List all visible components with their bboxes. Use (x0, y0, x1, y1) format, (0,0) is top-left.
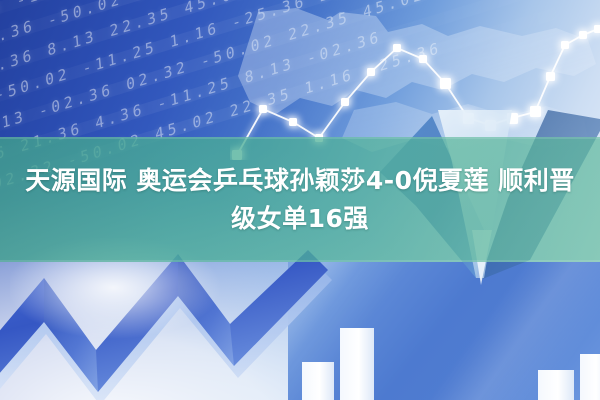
ticker-row: -02.36 45.02 -50.02 4.36 -25.36 1.16 (0, 0, 352, 16)
band-top-edge (0, 137, 600, 139)
headline-text-block: 天源国际 奥运会乒乓球孙颖莎4-0倪夏莲 顺利晋 级女单16强 (0, 144, 600, 256)
world-map-silhouette (236, 6, 596, 156)
headline-line-2: 级女单16强 (231, 202, 369, 236)
lower-right-sheen (288, 262, 600, 400)
3d-zigzag-arrow-ribbon (0, 250, 340, 400)
band-bottom-edge (0, 260, 600, 262)
ticker-row: 1.16 -25.36 -50.02 21.36 -11.25 02.32 (0, 0, 360, 76)
ticker-row: 45.02 -50.02 -11.25 1.16 -25.36 21.36 (0, 0, 383, 128)
bar-column (580, 354, 600, 400)
news-thumbnail-image: -50.02 -11.25 21.36 45.02 -02.36 8.13 -0… (0, 0, 600, 400)
white-column-bars (288, 300, 600, 400)
bar-column (340, 328, 374, 400)
bar-column (302, 362, 334, 400)
ticker-row: 8.13 -02.36 02.32 -50.02 22.35 45.02 (0, 0, 426, 140)
ticker-row: -02.36 8.13 22.35 45.02 -50.02 4.36 (0, 0, 397, 86)
lower-right-blue-field (288, 262, 600, 400)
ticker-row: 22.35 -11.25 -02.36 -50.02 8.13 45.02 (0, 0, 404, 33)
bar-column (538, 370, 574, 400)
glowing-uptrend-line-chart (230, 0, 600, 160)
headline-line-1: 天源国际 奥运会乒乓球孙颖莎4-0倪夏莲 顺利晋 (25, 164, 575, 198)
